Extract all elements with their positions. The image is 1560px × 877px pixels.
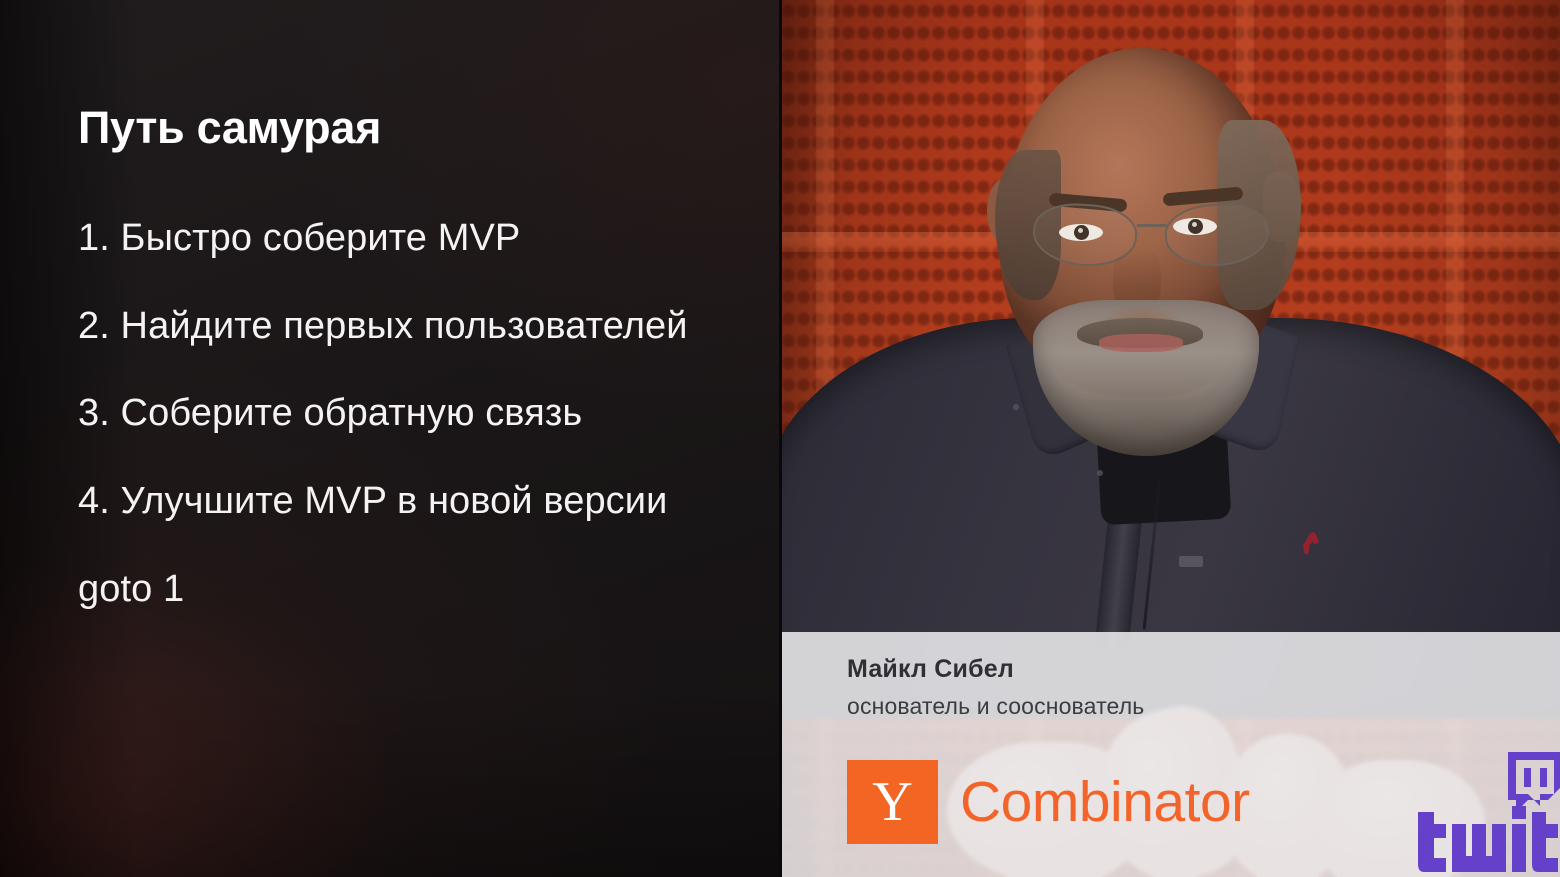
- twitch-glitch-icon: [1508, 752, 1560, 812]
- shirt-button-lower: [1097, 470, 1103, 476]
- slide-panel: Путь самурая 1. Быстро соберите MVP 2. Н…: [0, 0, 781, 877]
- step-item-2: 2. Найдите первых пользователей: [78, 304, 741, 349]
- panel-divider: [779, 0, 782, 877]
- lips: [1099, 334, 1183, 352]
- twitch-wordmark-shape: [1418, 806, 1560, 872]
- y-combinator-wordmark: Combinator: [960, 774, 1250, 831]
- twitch-logo: [1412, 750, 1560, 875]
- lens-right: [1163, 200, 1271, 269]
- slide-content: Путь самурая 1. Быстро соберите MVP 2. Н…: [0, 0, 781, 612]
- y-combinator-letter: Y: [872, 774, 912, 830]
- y-combinator-logo: Y Combinator: [847, 760, 1250, 844]
- lower-third-caption: Майкл Сибел основатель и сооснователь Y …: [781, 632, 1560, 877]
- caption-text-block: Майкл Сибел основатель и сооснователь: [847, 654, 1144, 722]
- presentation-frame: Путь самурая 1. Быстро соберите MVP 2. Н…: [0, 0, 1560, 877]
- step-item-3: 3. Соберите обратную связь: [78, 391, 741, 436]
- speaker-name: Майкл Сибел: [847, 654, 1144, 685]
- speaker-role: основатель и сооснователь: [847, 692, 1144, 722]
- glasses-bridge: [1137, 224, 1167, 227]
- logo-row: Y Combinator: [847, 750, 1560, 870]
- slide-title: Путь самурая: [78, 104, 741, 152]
- step-item-goto: goto 1: [78, 567, 741, 612]
- step-item-1: 1. Быстро соберите MVP: [78, 216, 741, 261]
- step-list: 1. Быстро соберите MVP 2. Найдите первых…: [78, 216, 741, 612]
- y-combinator-mark-icon: Y: [847, 760, 938, 844]
- step-item-4: 4. Улучшите MVP в новой версии: [78, 479, 741, 524]
- shirt-button-upper: [1013, 404, 1019, 410]
- lapel-microphone: [1179, 556, 1203, 567]
